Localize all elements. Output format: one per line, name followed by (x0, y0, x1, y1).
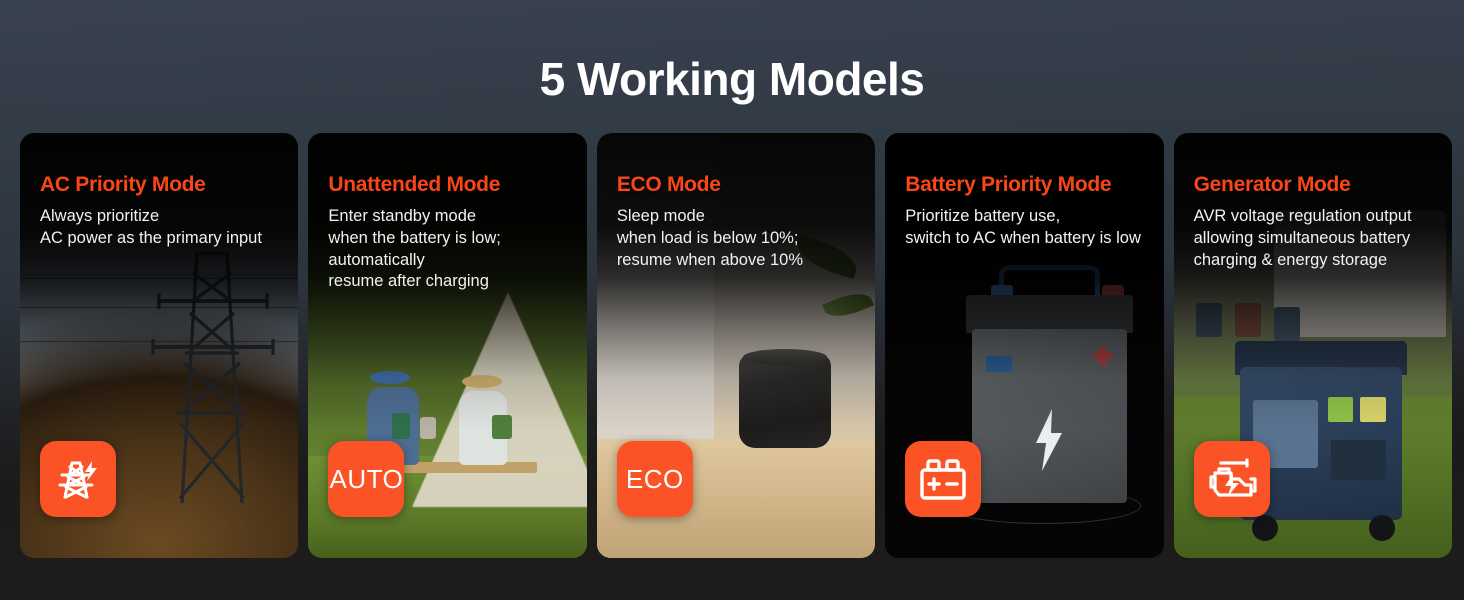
auto-badge-label: AUTO (330, 464, 404, 495)
working-models-banner: 5 Working Models (0, 0, 1464, 600)
badge-transmission-tower-bolt (40, 441, 116, 517)
mode-card-list: AC Priority Mode Always prioritize AC po… (20, 133, 1452, 558)
card-copy: Battery Priority Mode Prioritize battery… (905, 173, 1151, 250)
card-description: AVR voltage regulation output allowing s… (1194, 206, 1440, 271)
card-description-line: when load is below 10%; (617, 228, 863, 250)
card-description: Always prioritize AC power as the primar… (40, 206, 286, 250)
card-description-line: resume when above 10% (617, 250, 863, 272)
badge-car-battery (905, 441, 981, 517)
card-description: Prioritize battery use, switch to AC whe… (905, 206, 1151, 250)
card-copy: ECO Mode Sleep mode when load is below 1… (617, 173, 863, 271)
mode-card-ac-priority[interactable]: AC Priority Mode Always prioritize AC po… (20, 133, 298, 558)
mode-card-battery-priority[interactable]: Battery Priority Mode Prioritize battery… (885, 133, 1163, 558)
mode-card-unattended[interactable]: Unattended Mode Enter standby mode when … (308, 133, 586, 558)
card-description: Sleep mode when load is below 10%; resum… (617, 206, 863, 271)
card-description: Enter standby mode when the battery is l… (328, 206, 574, 293)
page-title: 5 Working Models (0, 52, 1464, 106)
engine-bolt-icon (1207, 457, 1257, 501)
card-title: Battery Priority Mode (905, 173, 1151, 197)
card-title: ECO Mode (617, 173, 863, 197)
badge-eco: ECO (617, 441, 693, 517)
card-copy: Generator Mode AVR voltage regulation ou… (1194, 173, 1440, 271)
card-description-line: switch to AC when battery is low (905, 228, 1151, 250)
transmission-tower-bolt-icon (54, 455, 102, 503)
card-description-line: Enter standby mode (328, 206, 574, 228)
mode-card-eco[interactable]: ECO Mode Sleep mode when load is below 1… (597, 133, 875, 558)
card-description-line: automatically (328, 250, 574, 272)
card-description-line: Sleep mode (617, 206, 863, 228)
card-description-line: allowing simultaneous battery (1194, 228, 1440, 250)
card-description-line: Always prioritize (40, 206, 286, 228)
card-description-line: when the battery is low; (328, 228, 574, 250)
card-title: Generator Mode (1194, 173, 1440, 197)
badge-auto: AUTO (328, 441, 404, 517)
car-battery-icon (918, 457, 968, 501)
card-description-line: charging & energy storage (1194, 250, 1440, 272)
card-title: AC Priority Mode (40, 173, 286, 197)
card-description-line: resume after charging (328, 271, 574, 293)
card-description-line: AVR voltage regulation output (1194, 206, 1440, 228)
card-copy: Unattended Mode Enter standby mode when … (328, 173, 574, 293)
card-description-line: Prioritize battery use, (905, 206, 1151, 228)
card-title: Unattended Mode (328, 173, 574, 197)
eco-badge-label: ECO (626, 464, 684, 495)
badge-engine-bolt (1194, 441, 1270, 517)
card-description-line: AC power as the primary input (40, 228, 286, 250)
card-copy: AC Priority Mode Always prioritize AC po… (40, 173, 286, 250)
mode-card-generator[interactable]: Generator Mode AVR voltage regulation ou… (1174, 133, 1452, 558)
